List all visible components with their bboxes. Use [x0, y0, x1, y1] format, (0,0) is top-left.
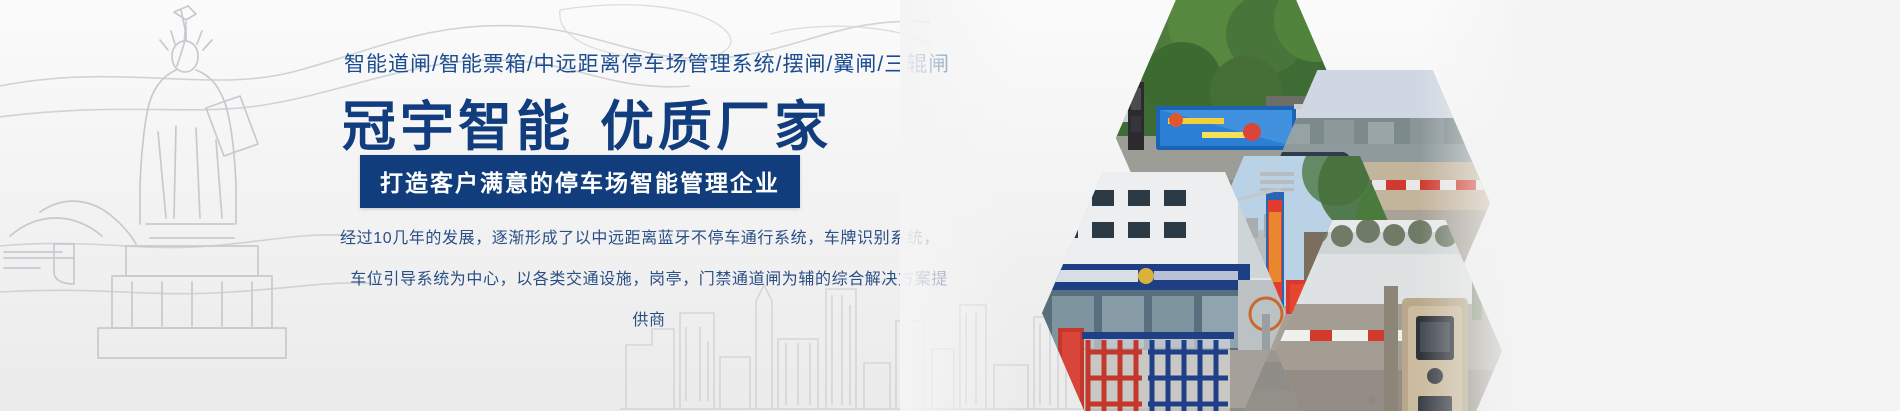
hexagon-photo-collage — [930, 0, 1490, 411]
banner-tagline: 智能道闸/智能票箱/中远距离停车场管理系统/摆闸/翼闸/三辊闸 — [344, 48, 950, 78]
headline-right: 优质厂家 — [600, 97, 832, 157]
paragraph-line-1: 经过10几年的发展，逐渐形成了以中远距离蓝牙不停车通行系统，车牌识别系统， — [340, 230, 940, 247]
banner-copy: 智能道闸/智能票箱/中远距离停车场管理系统/摆闸/翼闸/三辊闸 冠宇智能优质厂家… — [330, 0, 950, 411]
promo-banner: 智能道闸/智能票箱/中远距离停车场管理系统/摆闸/翼闸/三辊闸 冠宇智能优质厂家… — [0, 0, 1900, 411]
banner-slogan-pill: 打造客户满意的停车场智能管理企业 — [360, 155, 800, 208]
paragraph-line-2: 车位引导系统为中心，以各类交通设施，岗亭，门禁通道闸为辅的综合解决方案提供商 — [348, 259, 950, 341]
banner-paragraph: 经过10几年的发展，逐渐形成了以中远距离蓝牙不停车通行系统，车牌识别系统， 车位… — [330, 218, 950, 341]
banner-headline: 冠宇智能优质厂家 — [342, 82, 832, 161]
headline-left: 冠宇智能 — [342, 97, 574, 157]
